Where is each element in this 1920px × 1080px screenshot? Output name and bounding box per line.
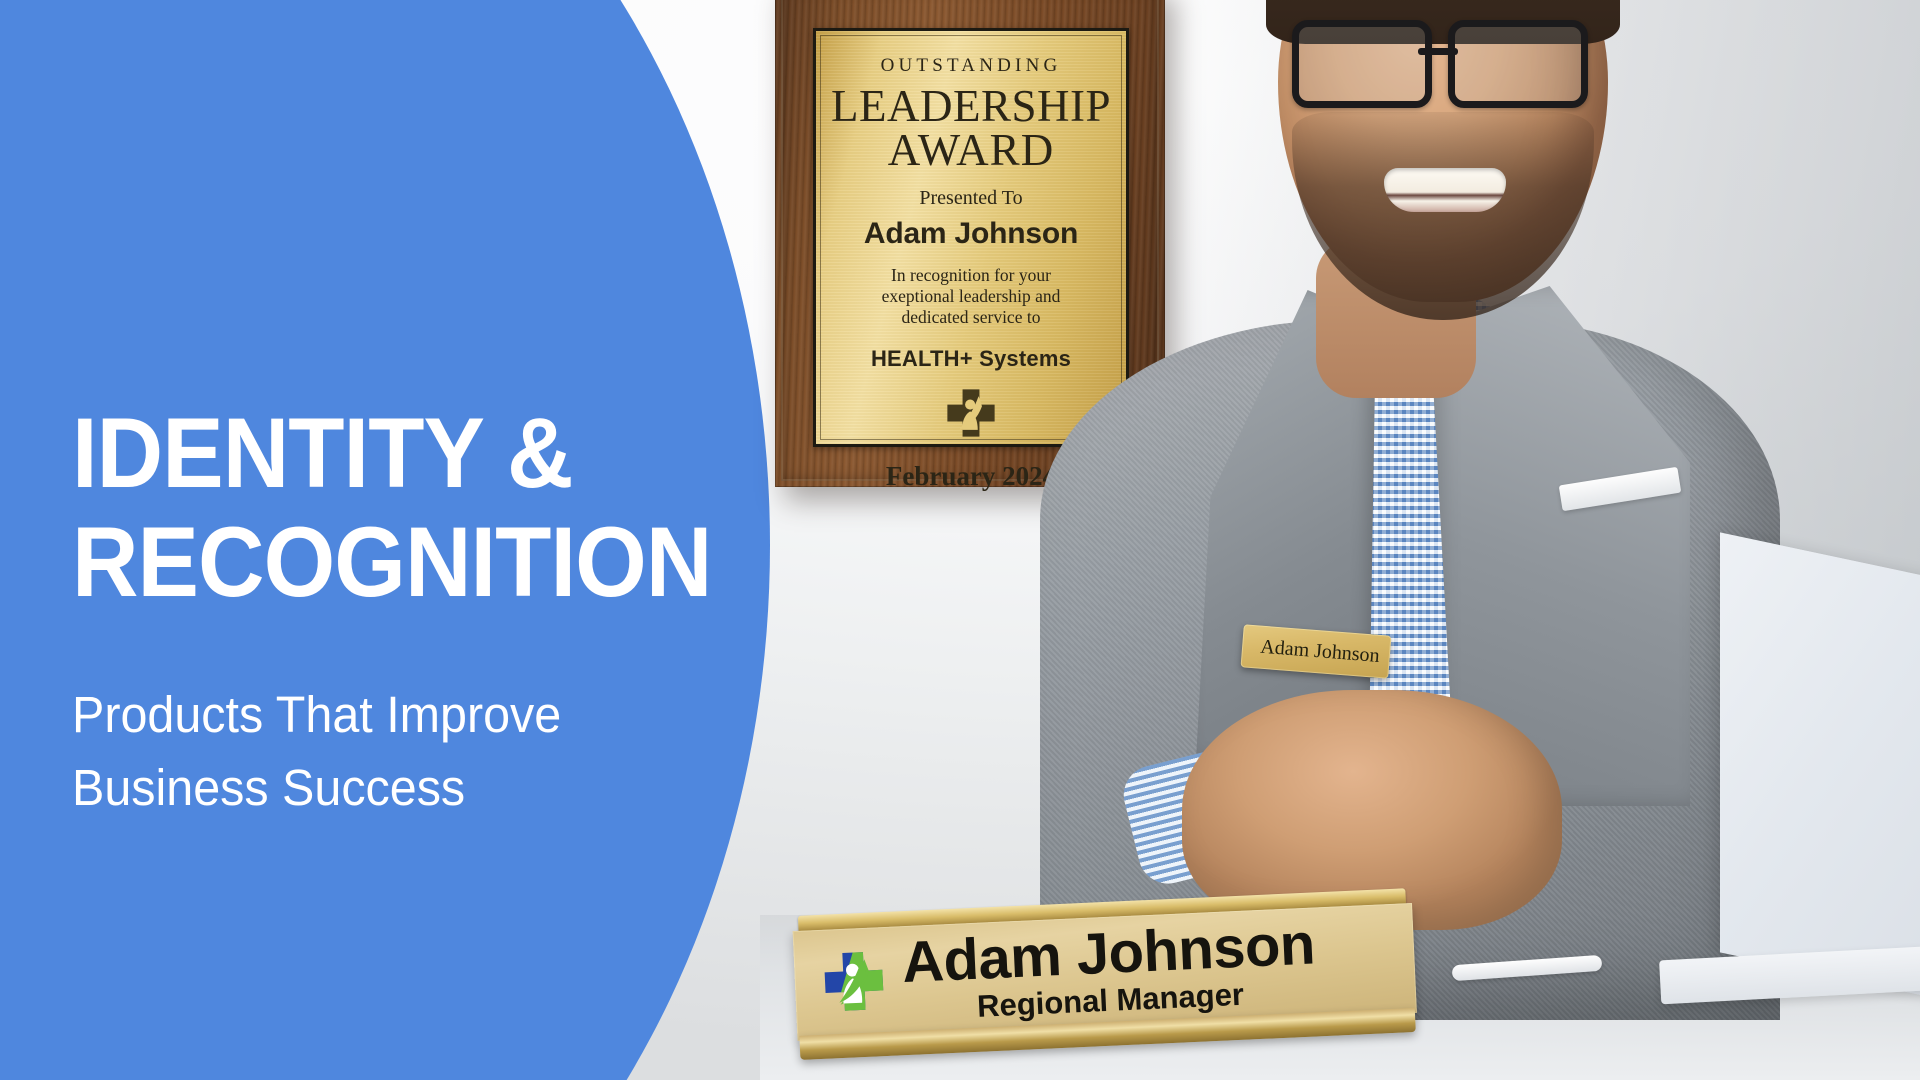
lapel-badge-name: Adam Johnson (1252, 635, 1381, 668)
lens-right (1448, 20, 1588, 108)
laptop-screen (1720, 532, 1920, 1007)
smile-mouth (1384, 168, 1506, 212)
nameplate-name: Adam Johnson (901, 916, 1316, 991)
headline-block: IDENTITY & RECOGNITION Products That Imp… (72, 398, 672, 824)
slide-canvas: Adam Johnson OUTSTANDING LEADERSHIP AWAR… (0, 0, 1920, 1080)
desk-nameplate: Adam Johnson Regional Manager (792, 888, 1418, 1066)
nameplate-text: Adam Johnson Regional Manager (901, 916, 1318, 1027)
page-title: IDENTITY & RECOGNITION (72, 398, 630, 616)
page-subtitle: Products That Improve Business Success (72, 678, 642, 824)
lens-left (1292, 20, 1432, 108)
glasses-bridge (1418, 48, 1458, 55)
eyeglasses (1282, 16, 1604, 102)
health-plus-cross-icon (819, 946, 888, 1020)
